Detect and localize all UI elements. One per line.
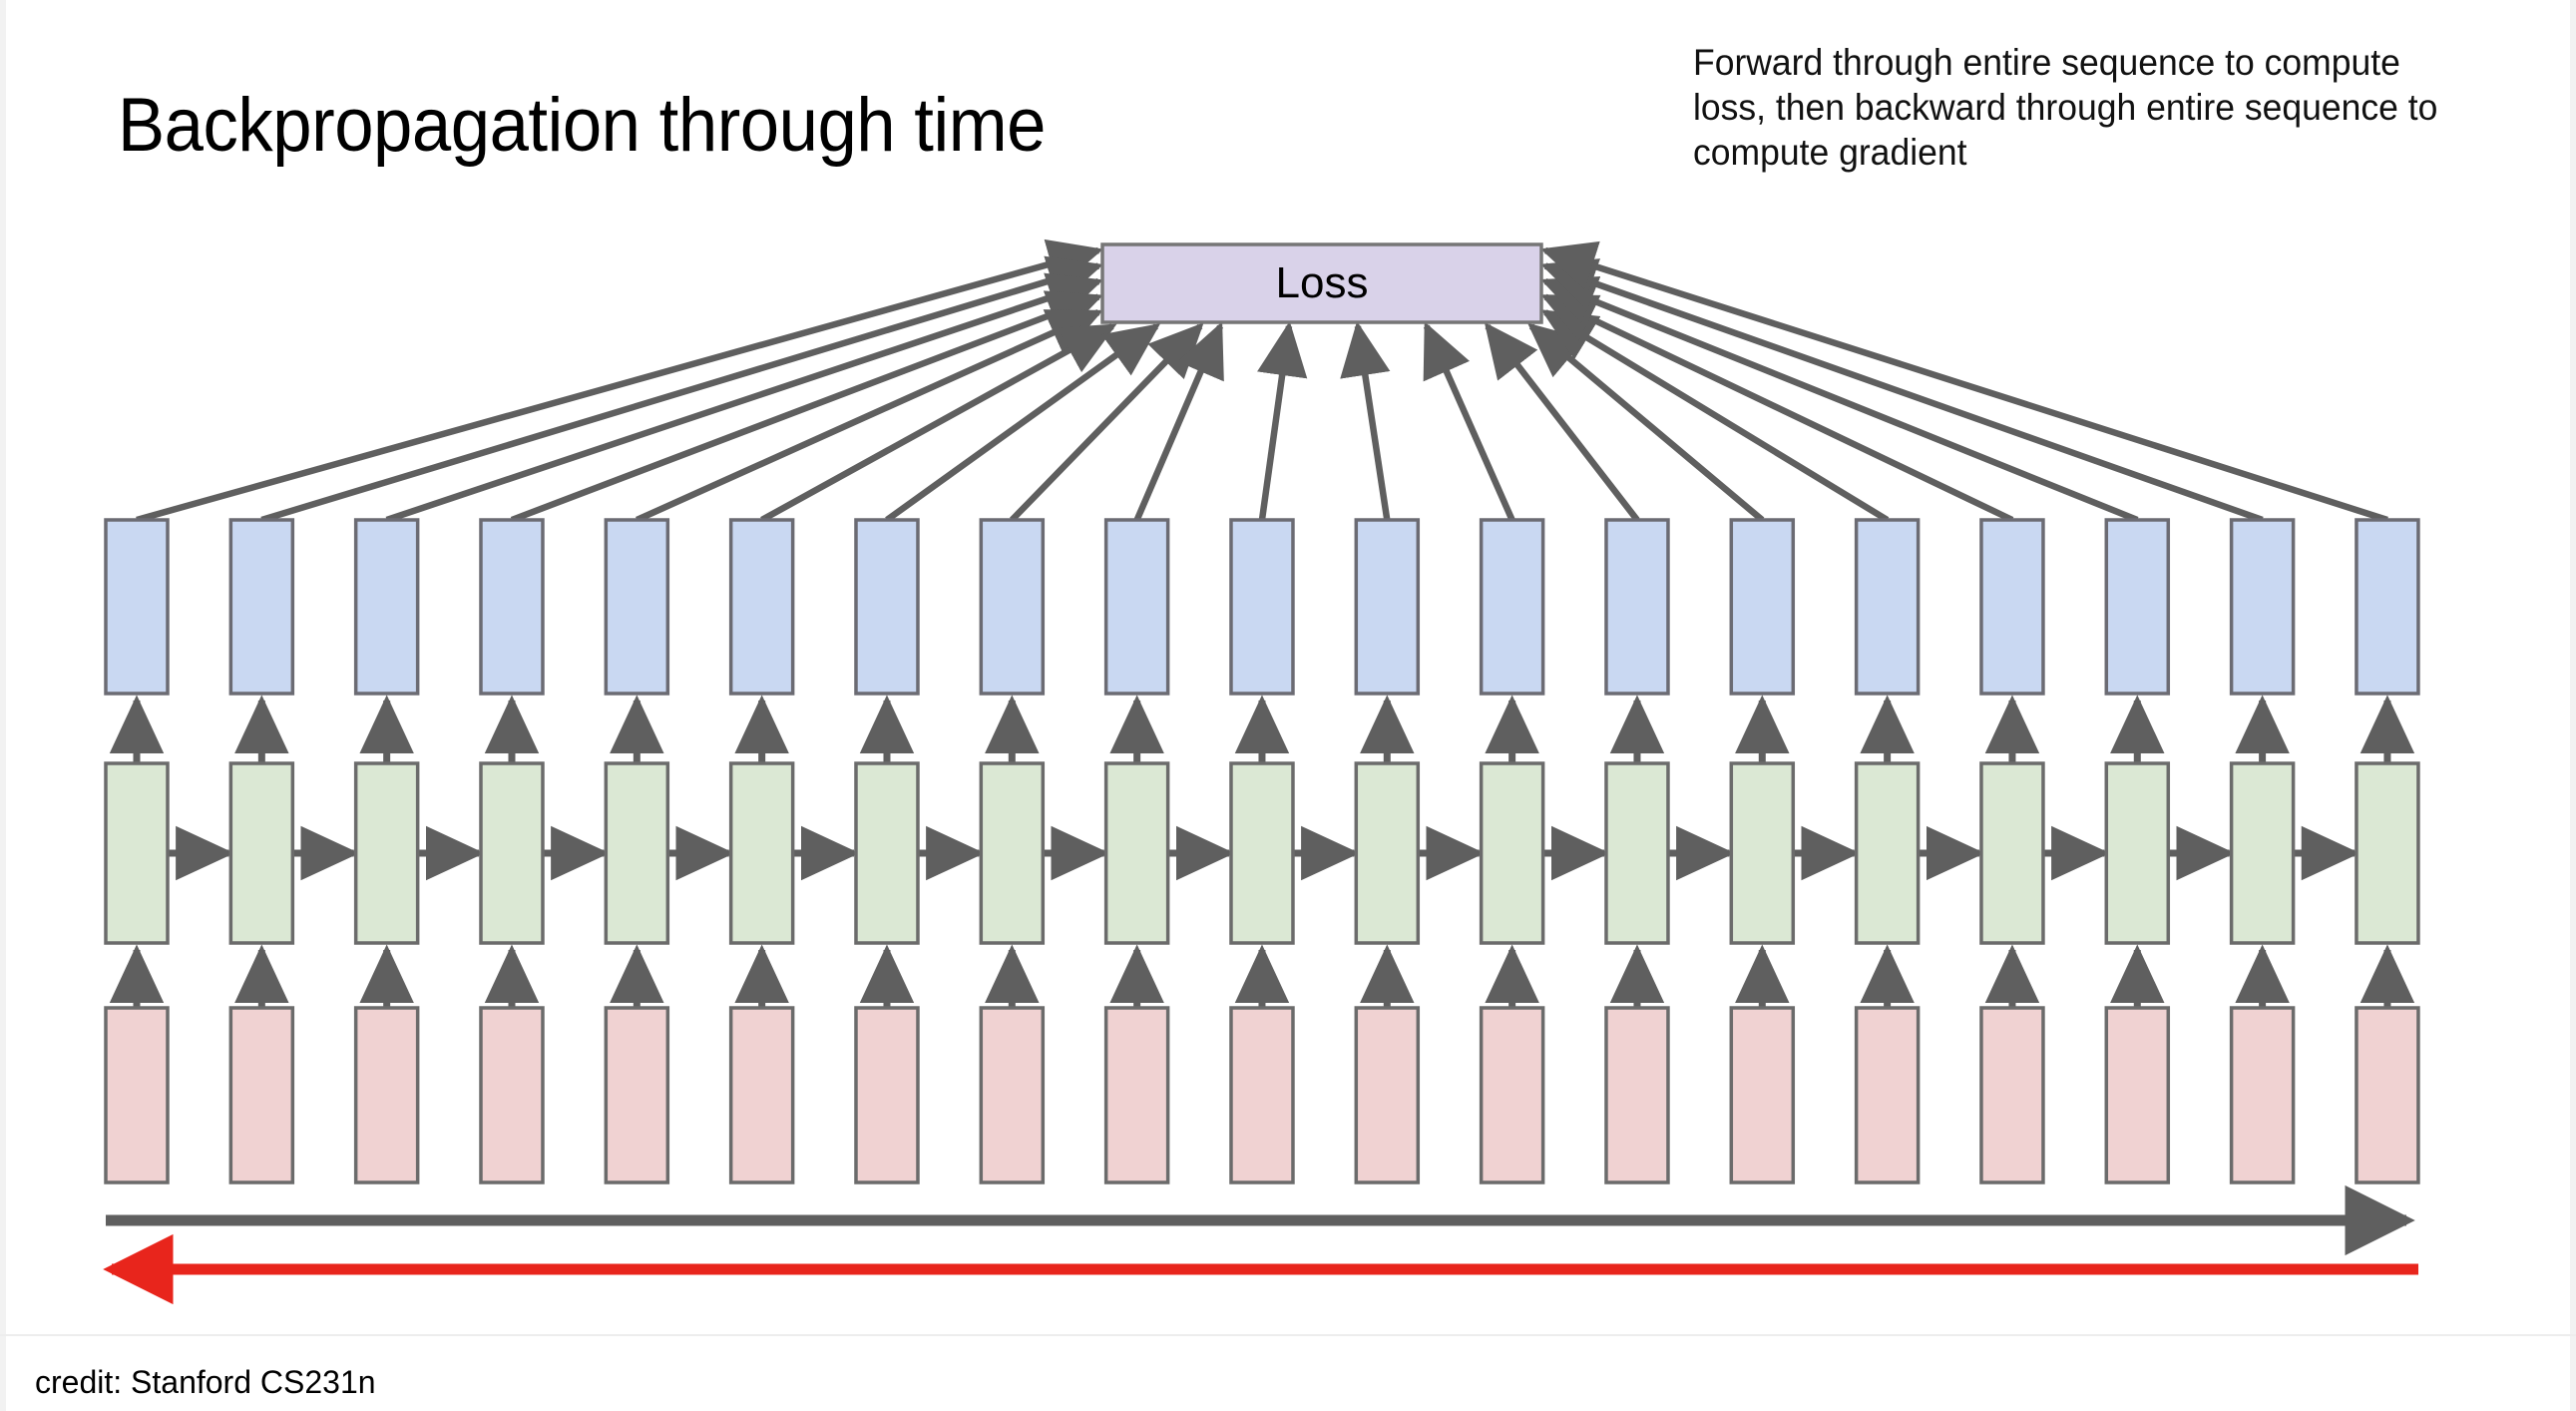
hidden-node-cell[interactable] (1857, 763, 1919, 943)
output-node-cell[interactable] (981, 520, 1043, 694)
output-node-cell[interactable] (1106, 520, 1168, 694)
output-node-cell[interactable] (1857, 520, 1919, 694)
output-node-cell[interactable] (1606, 520, 1668, 694)
output-node-cell[interactable] (356, 520, 418, 694)
input-node-cell[interactable] (1606, 1008, 1668, 1182)
hidden-node-cell[interactable] (1106, 763, 1168, 943)
hidden-node-cell[interactable] (230, 763, 292, 943)
hidden-node-cell[interactable] (481, 763, 543, 943)
input-node-cell[interactable] (2232, 1008, 2294, 1182)
output-node-cell[interactable] (2357, 520, 2418, 694)
loss-node-box[interactable] (1102, 244, 1541, 322)
output-node-cell[interactable] (606, 520, 667, 694)
input-node-cell[interactable] (230, 1008, 292, 1182)
output-to-loss-arrow (1358, 326, 1387, 520)
output-to-loss-arrow (1137, 326, 1220, 520)
hidden-node-cell[interactable] (1731, 763, 1793, 943)
output-node-cell[interactable] (1482, 520, 1543, 694)
output-to-loss-arrow (887, 326, 1156, 520)
output-to-loss-arrow (1427, 326, 1512, 520)
input-node-cell[interactable] (481, 1008, 543, 1182)
output-to-loss-arrow (1545, 250, 2387, 520)
timeline-arrow-group (106, 1220, 2418, 1269)
credit-text: credit: Stanford CS231n (35, 1364, 376, 1401)
hidden-node-cell[interactable] (981, 763, 1043, 943)
hidden-node-cell[interactable] (1231, 763, 1293, 943)
input-node-cell[interactable] (356, 1008, 418, 1182)
input-node-cell[interactable] (106, 1008, 168, 1182)
input-node-cell[interactable] (2106, 1008, 2168, 1182)
input-node-cell[interactable] (1482, 1008, 1543, 1182)
hidden-node-cell[interactable] (1981, 763, 2043, 943)
output-to-loss-arrow (1262, 326, 1289, 520)
hidden-node-cell[interactable] (356, 763, 418, 943)
rnn-unrolled-diagram (0, 0, 2576, 1411)
output-to-loss-arrow (1545, 266, 2263, 521)
output-node-cell[interactable] (1231, 520, 1293, 694)
output-node-cell[interactable] (1356, 520, 1418, 694)
input-layer-boxes (106, 1008, 2418, 1182)
output-node-cell[interactable] (856, 520, 918, 694)
hidden-node-cell[interactable] (2232, 763, 2294, 943)
hidden-node-cell[interactable] (1482, 763, 1543, 943)
hidden-node-cell[interactable] (2357, 763, 2418, 943)
output-layer-boxes (106, 520, 2418, 694)
output-node-cell[interactable] (106, 520, 168, 694)
input-node-cell[interactable] (1731, 1008, 1793, 1182)
output-node-cell[interactable] (731, 520, 793, 694)
output-to-loss-arrow (1012, 326, 1200, 520)
hidden-node-cell[interactable] (2106, 763, 2168, 943)
input-node-cell[interactable] (856, 1008, 918, 1182)
output-to-loss-arrow (261, 266, 1098, 521)
output-node-cell[interactable] (1731, 520, 1793, 694)
input-node-cell[interactable] (2357, 1008, 2418, 1182)
hidden-node-cell[interactable] (731, 763, 793, 943)
output-node-cell[interactable] (1981, 520, 2043, 694)
hidden-node-cell[interactable] (1606, 763, 1668, 943)
input-node-cell[interactable] (1231, 1008, 1293, 1182)
slide-canvas: Backpropagation through time Forward thr… (0, 0, 2576, 1411)
input-node-cell[interactable] (606, 1008, 667, 1182)
output-to-loss-arrow (387, 281, 1098, 520)
input-node-cell[interactable] (1981, 1008, 2043, 1182)
output-node-cell[interactable] (481, 520, 543, 694)
input-node-cell[interactable] (981, 1008, 1043, 1182)
input-node-cell[interactable] (1857, 1008, 1919, 1182)
output-node-cell[interactable] (230, 520, 292, 694)
input-node-cell[interactable] (731, 1008, 793, 1182)
hidden-node-cell[interactable] (856, 763, 918, 943)
input-node-cell[interactable] (1106, 1008, 1168, 1182)
input-node-cell[interactable] (1356, 1008, 1418, 1182)
output-to-loss-arrow (1545, 281, 2137, 520)
hidden-node-cell[interactable] (106, 763, 168, 943)
output-node-cell[interactable] (2232, 520, 2294, 694)
hidden-node-cell[interactable] (606, 763, 667, 943)
output-node-cell[interactable] (2106, 520, 2168, 694)
hidden-node-cell[interactable] (1356, 763, 1418, 943)
